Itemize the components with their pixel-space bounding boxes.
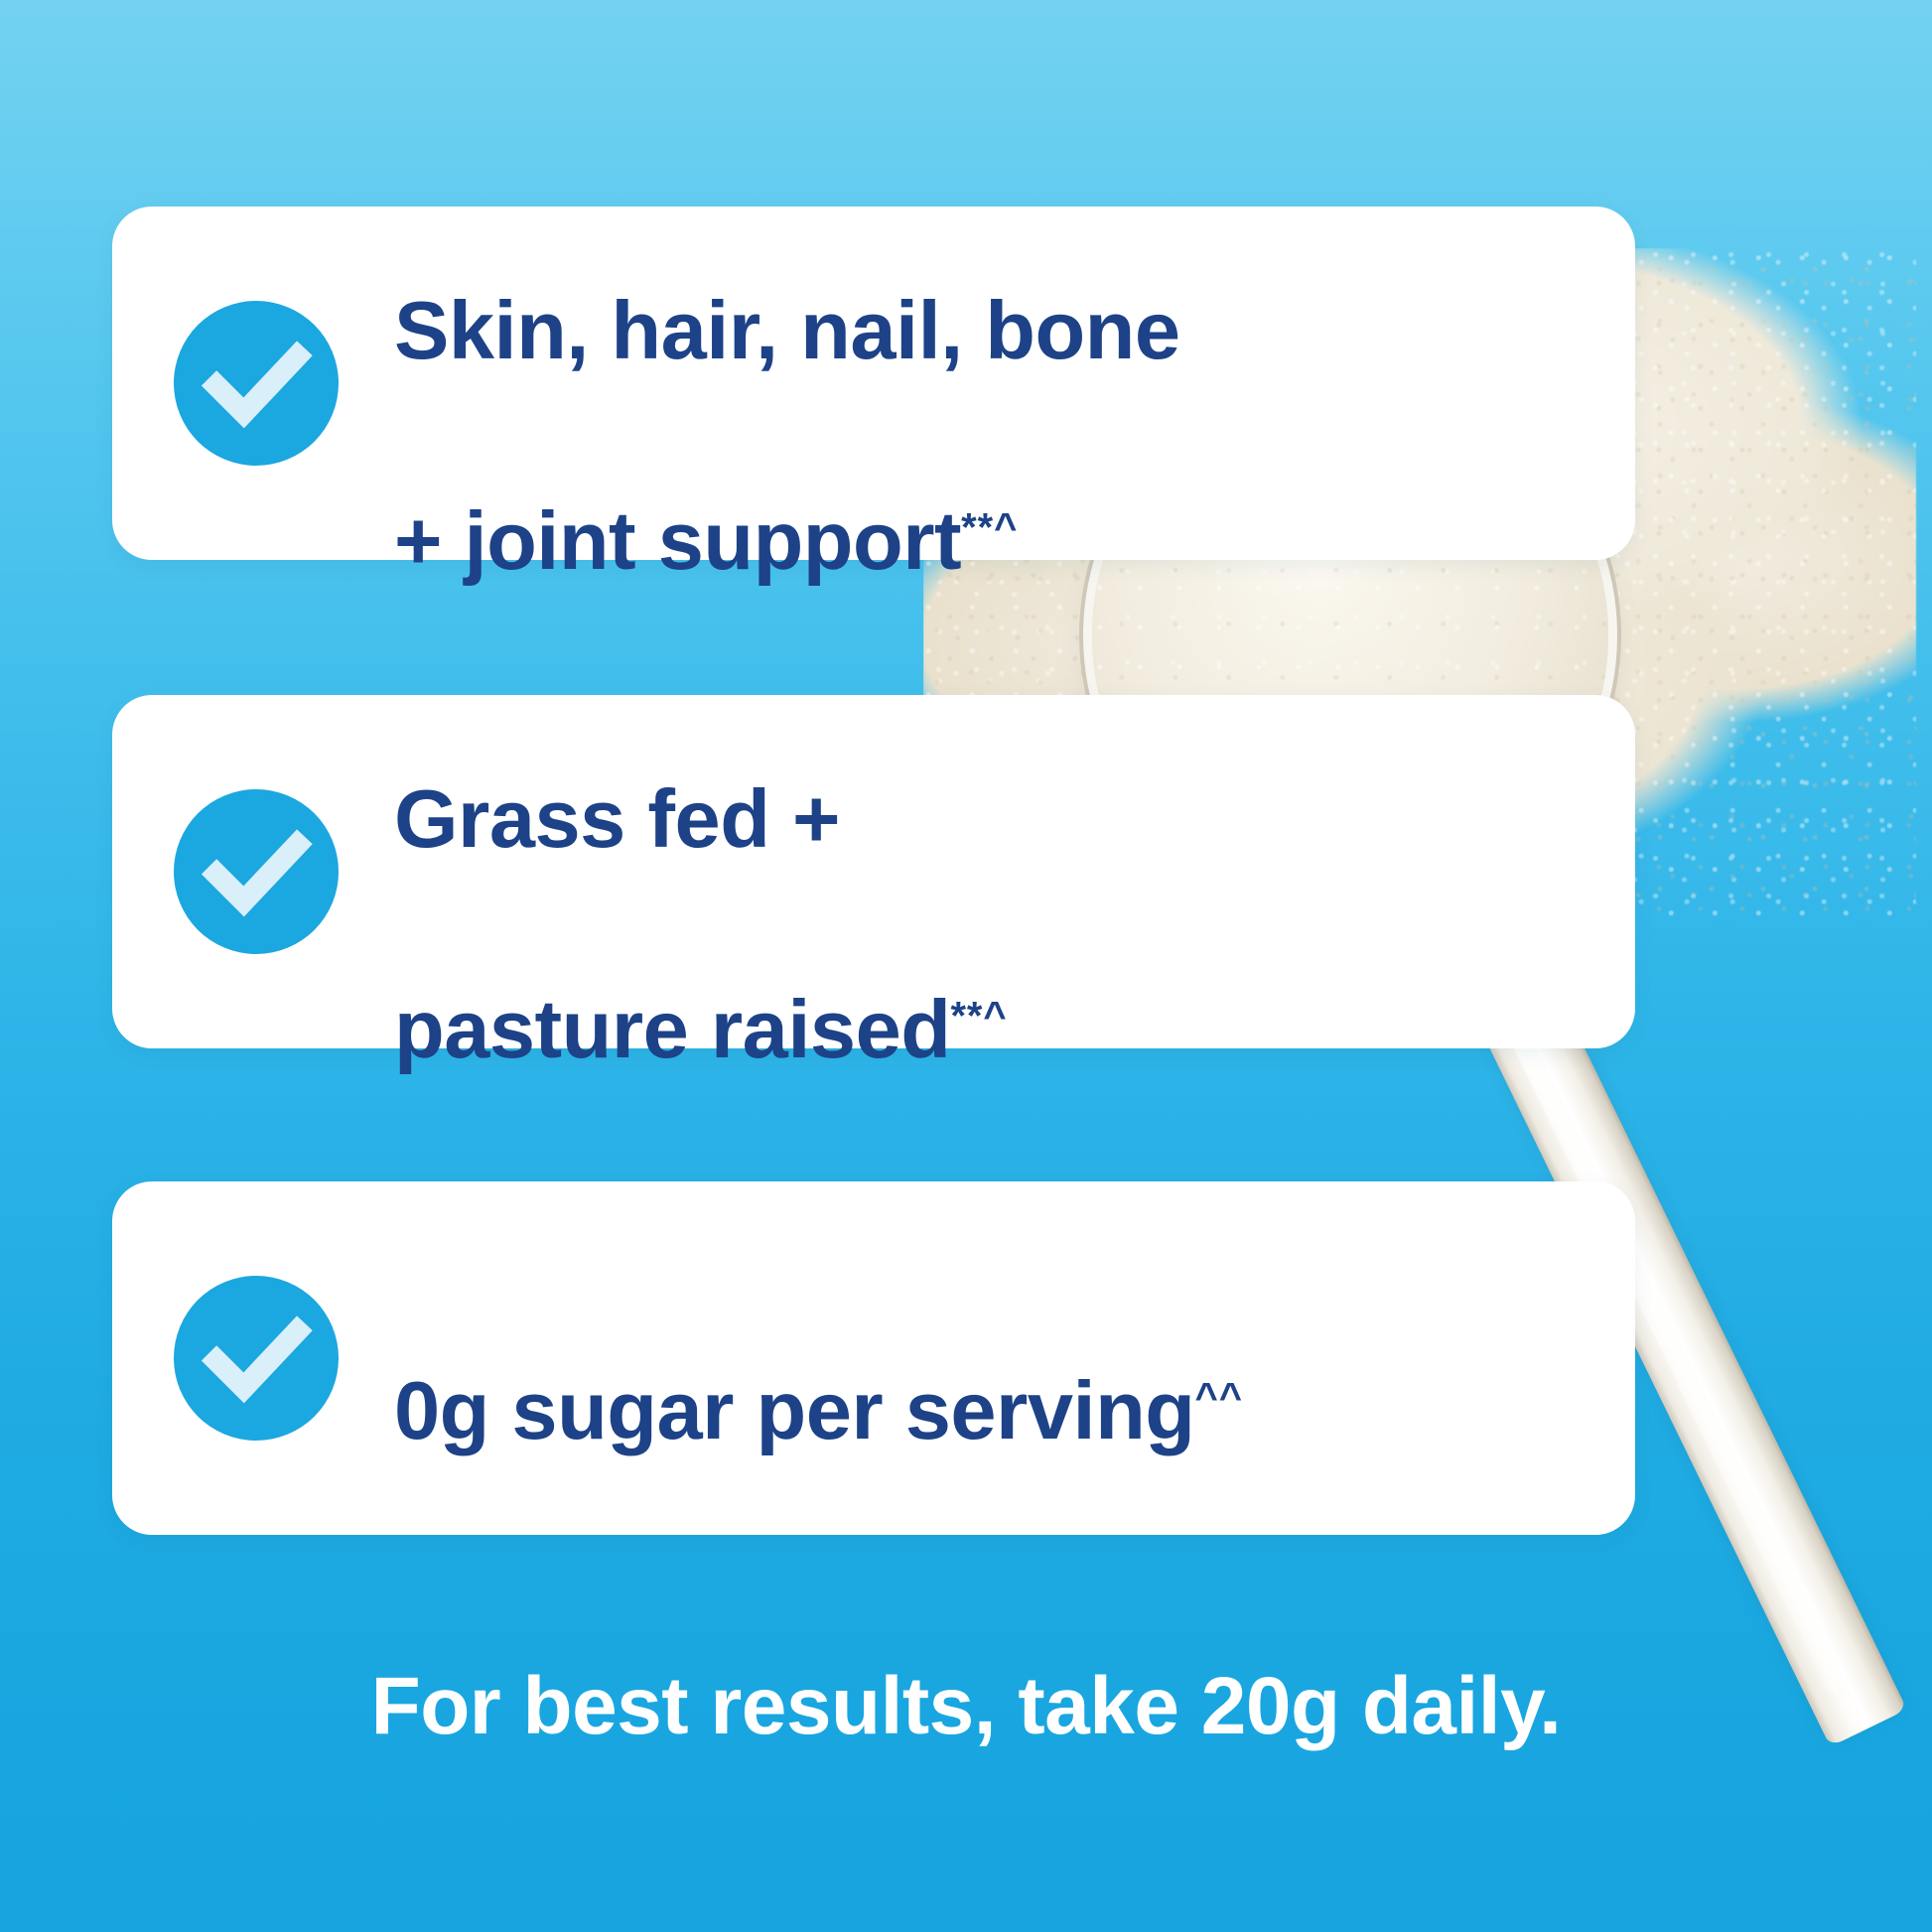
benefit-text: Skin, hair, nail, bone + joint support**… <box>394 173 1180 595</box>
benefit-card[interactable]: Grass fed + pasture raised**^ <box>112 695 1635 1048</box>
benefit-line-1: Grass fed + <box>394 772 840 865</box>
benefit-footnote: ^^ <box>1194 1375 1243 1419</box>
benefit-card[interactable]: Skin, hair, nail, bone + joint support**… <box>112 207 1635 560</box>
benefit-footnote: **^ <box>961 506 1018 550</box>
benefit-line-2: pasture raised <box>394 983 950 1075</box>
benefit-text: Grass fed + pasture raised**^ <box>394 661 1008 1083</box>
usage-instruction-text: For best results, take 20g daily. <box>0 1660 1932 1753</box>
benefit-line-1: Skin, hair, nail, bone <box>394 284 1180 376</box>
benefit-text: 0g sugar per serving^^ <box>394 1253 1243 1463</box>
benefit-line-1: 0g sugar per serving <box>394 1364 1194 1456</box>
check-circle-icon <box>174 789 339 954</box>
check-circle-icon <box>174 301 339 466</box>
benefit-line-2: + joint support <box>394 494 961 587</box>
check-circle-icon <box>174 1276 339 1441</box>
benefit-footnote: **^ <box>950 995 1007 1038</box>
benefit-card[interactable]: 0g sugar per serving^^ <box>112 1181 1635 1535</box>
promo-graphic: Skin, hair, nail, bone + joint support**… <box>0 0 1932 1932</box>
